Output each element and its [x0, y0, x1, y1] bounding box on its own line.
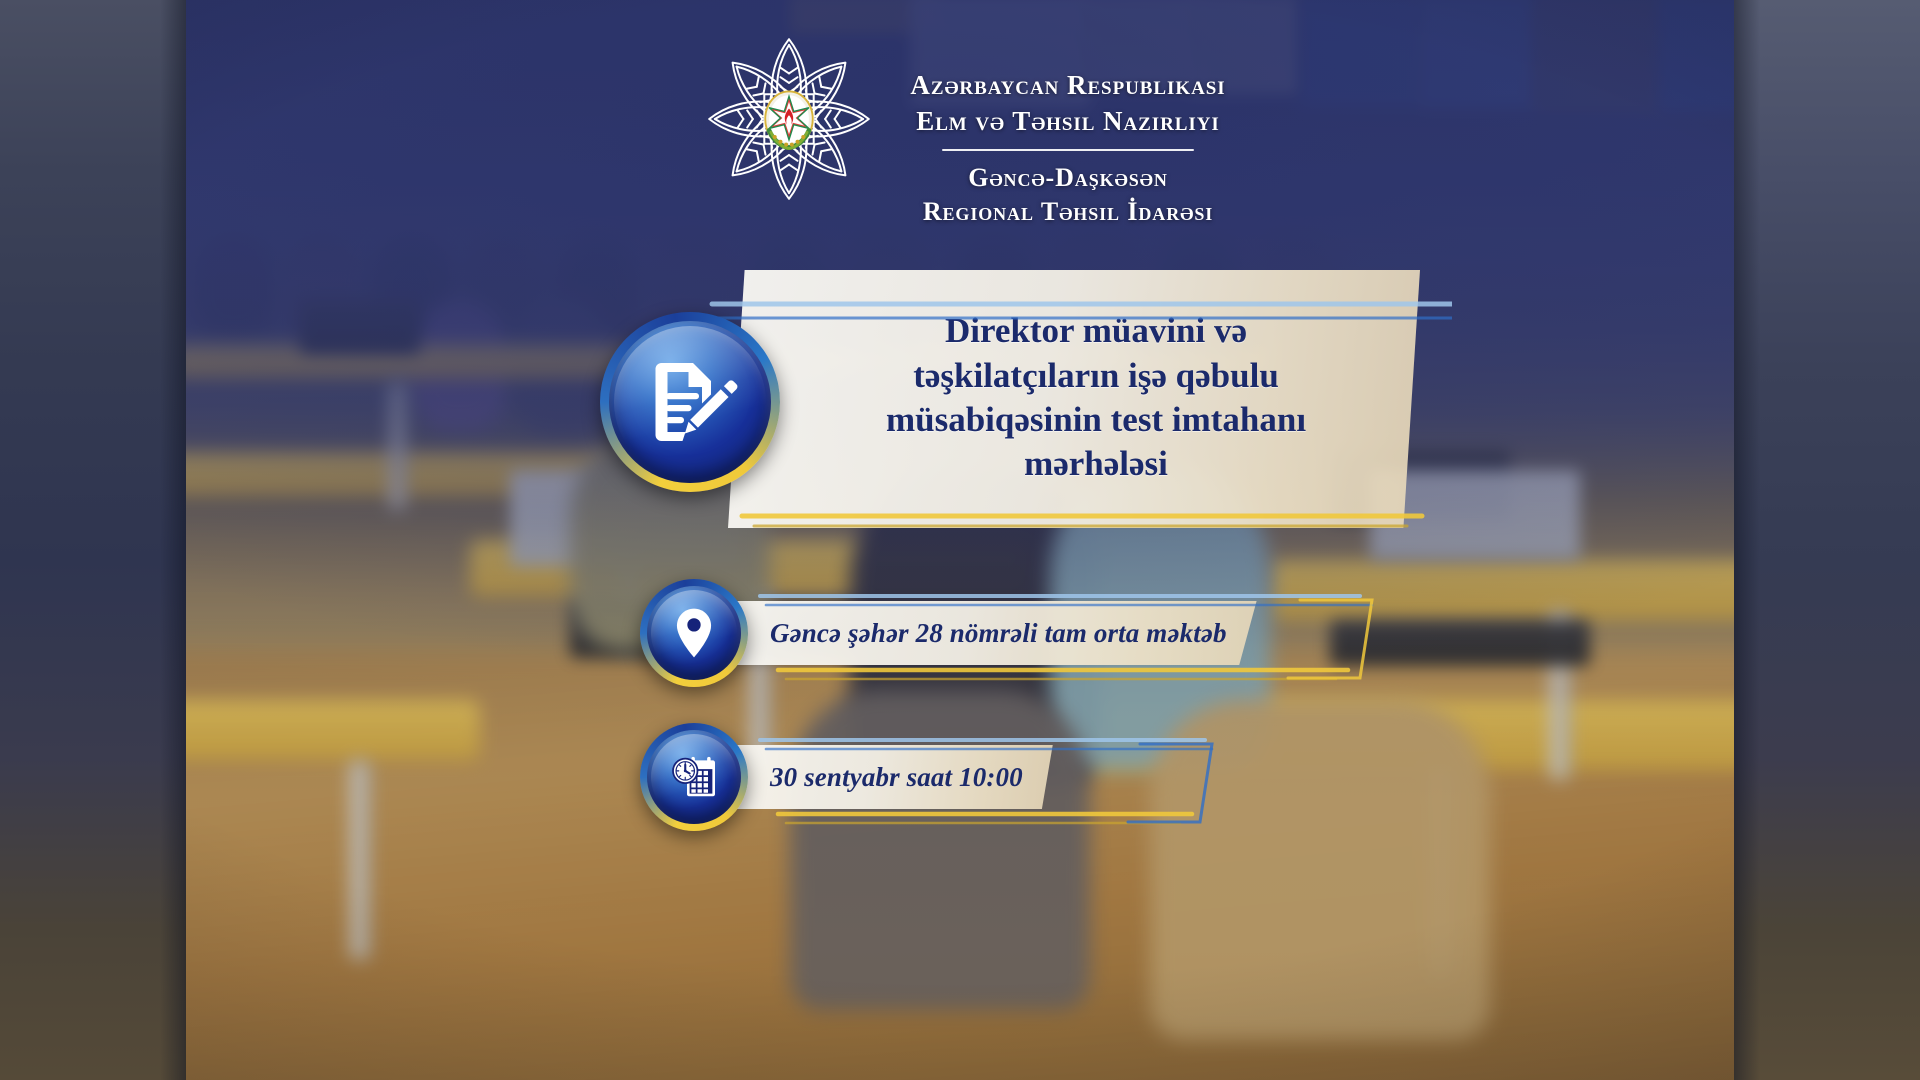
document-pencil-icon	[600, 312, 780, 492]
coat-of-arms	[766, 91, 814, 148]
calendar-clock-icon	[640, 723, 748, 831]
ministry-titles: Azərbaycan Respublikası Elm və Təhsil Na…	[910, 68, 1225, 230]
letterbox-left	[0, 0, 186, 1080]
datetime-decoration	[700, 722, 1220, 832]
azerbaijan-ministry-emblem-icon	[694, 24, 884, 214]
ministry-line-1: Azərbaycan Respublikası	[910, 68, 1225, 104]
announcement-title-row: Direktor müavini və təşkilatçıların işə …	[600, 268, 1420, 530]
ministry-line-3: Gəncə-Daşkəsən	[910, 161, 1225, 196]
location-decoration	[700, 578, 1380, 688]
location-row: Gəncə şəhər 28 nömrəli tam orta məktəb	[640, 578, 1300, 688]
map-pin-icon	[640, 579, 748, 687]
header-divider	[942, 149, 1194, 151]
ministry-line-4: Regional Təhsil İdarəsi	[910, 195, 1225, 230]
poster-canvas: Azərbaycan Respublikası Elm və Təhsil Na…	[0, 0, 1920, 1080]
letterbox-right	[1734, 0, 1920, 1080]
poster-header: Azərbaycan Respublikası Elm və Təhsil Na…	[150, 18, 1770, 238]
ministry-line-2: Elm və Təhsil Nazirliyi	[910, 104, 1225, 140]
datetime-row: 30 sentyabr saat 10:00	[640, 722, 1120, 832]
